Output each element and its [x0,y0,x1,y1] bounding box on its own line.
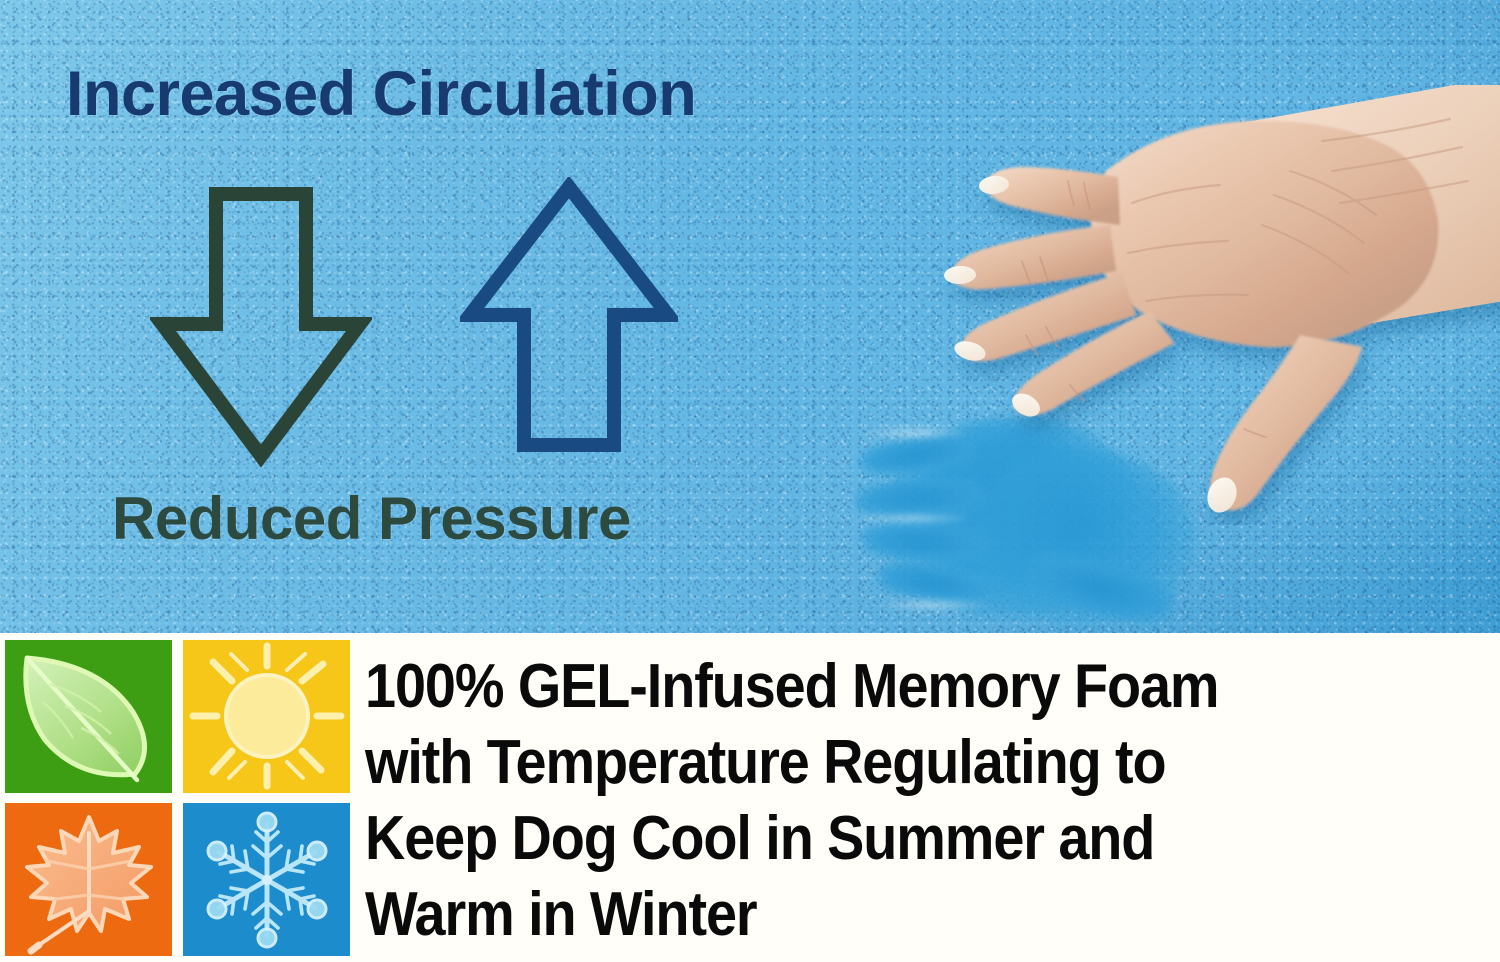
down-arrow-icon [150,184,372,468]
memory-foam-photo: Increased Circulation Reduced Pressure [0,0,1500,633]
leaf-icon [5,640,172,793]
season-tile-winter [183,803,350,956]
snowflake-icon [183,803,350,956]
reduced-pressure-heading: Reduced Pressure [112,484,631,553]
up-arrow-icon [460,177,678,457]
headline-line-4: Warm in Winter [365,877,1382,953]
headline-line-3: Keep Dog Cool in Summer and [365,801,1382,877]
sun-icon [183,640,350,793]
maple-leaf-icon [5,803,172,956]
increased-circulation-heading: Increased Circulation [66,58,696,130]
hand-photo [870,85,1500,525]
four-season-icon-grid [5,640,353,956]
headline-line-2: with Temperature Regulating to [365,725,1382,801]
season-tile-spring [5,640,172,793]
headline-line-1: 100% GEL-Infused Memory Foam [365,649,1382,725]
season-tile-autumn [5,803,172,956]
product-infographic: Increased Circulation Reduced Pressure [0,0,1500,962]
benefits-headline: 100% GEL-Infused Memory Foam with Temper… [365,649,1495,953]
benefits-band: 100% GEL-Infused Memory Foam with Temper… [0,633,1500,962]
season-tile-summer [183,640,350,793]
